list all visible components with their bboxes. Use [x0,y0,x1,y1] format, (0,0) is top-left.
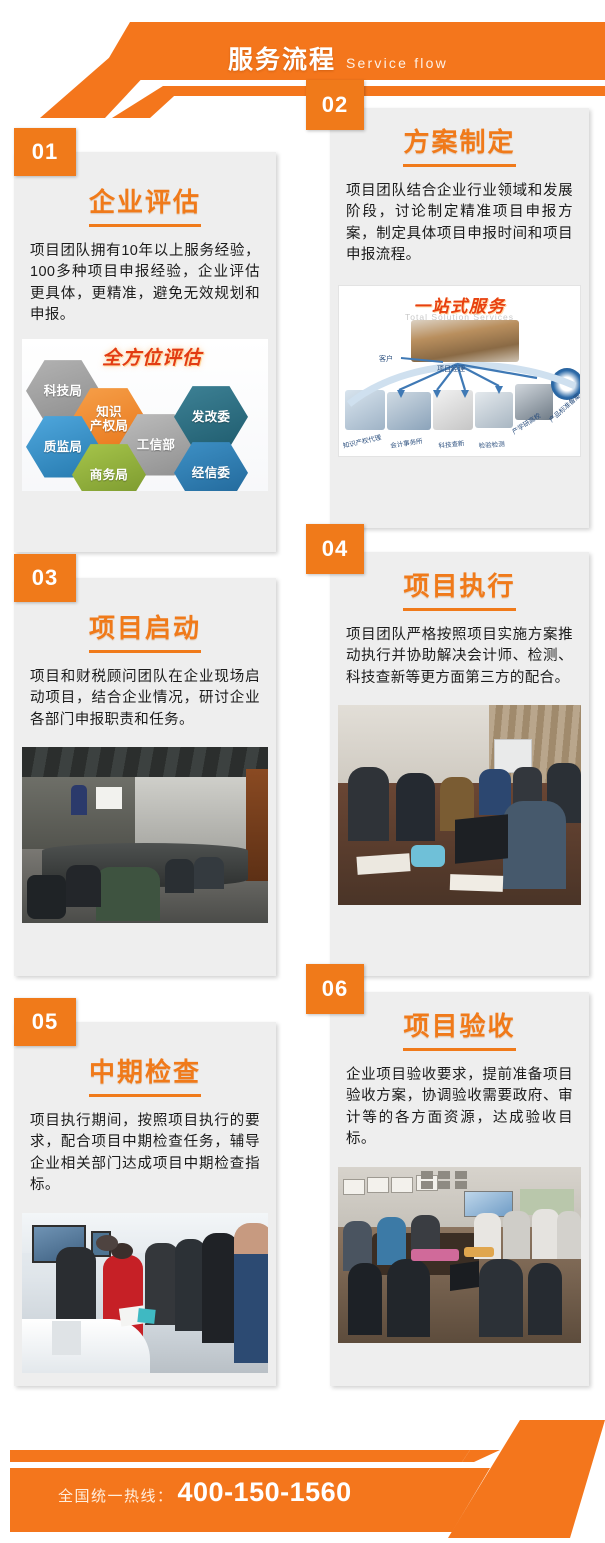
process-card-04[interactable]: 04 项目执行 项目团队严格按照项目实施方案推动执行并协助解决会计师、检测、科技… [330,552,589,976]
card-number-badge-03: 03 [14,554,76,602]
card-header-06: 项目验收 [330,992,589,1051]
card-body-02: 项目团队结合企业行业领域和发展阶段，讨论制定精准项目申报方案，制定具体项目申报时… [330,167,589,279]
onestop-node-pm: 项目经理 [437,364,465,374]
card-number-badge-02: 02 [306,80,364,130]
card-body-06: 企业项目验收要求，提前准备项目验收方案，协调验收需要政府、审计等的各方面资源，达… [330,1051,589,1163]
header-title-cn: 服务流程 [228,40,336,76]
onestop-label-testing: 检验检测 [478,438,505,450]
process-card-01[interactable]: 01 企业评估 项目团队拥有10年以上服务经验，100多种项目申报经验，企业评估… [14,152,276,552]
footer-hotline: 全国统一热线： 400-150-1560 [58,1477,352,1508]
card-title-03: 项目启动 [89,608,201,653]
hex-diagram-title: 全方位评估 [102,343,202,370]
card-number-badge-04: 04 [306,524,364,574]
card-title-05: 中期检查 [89,1052,201,1097]
card-photo-03 [22,747,268,923]
header-title-en: Service flow [346,55,448,71]
card-title-02: 方案制定 [403,122,515,167]
process-card-06[interactable]: 06 项目验收 企业项目验收要求，提前准备项目验收方案，协调验收需要政府、审计等… [330,992,589,1386]
card-number-badge-01: 01 [14,128,76,176]
onestop-service-diagram: 一站式服务 Total Solution Services 客户 项目经理 知识… [338,285,581,457]
card-photo-05 [22,1213,268,1373]
process-card-02[interactable]: 02 方案制定 项目团队结合企业行业领域和发展阶段，讨论制定精准项目申报方案，制… [330,108,589,528]
hex-diagram-01: 全方位评估 科技局 知识产权局 质监局 工信部 商务局 发改委 经信委 [22,339,268,491]
card-header-04: 项目执行 [330,552,589,611]
card-photo-04 [338,705,581,905]
process-card-05[interactable]: 05 中期检查 项目执行期间，按照项目执行的要求，配合项目中期检查任务，辅导企业… [14,1022,276,1386]
card-title-01: 企业评估 [89,182,201,227]
card-number-badge-06: 06 [306,964,364,1014]
card-body-03: 项目和财税顾问团队在企业现场启动项目，结合企业情况，研讨企业各部门申报职责和任务… [14,653,276,743]
onestop-node-customer: 客户 [379,354,393,364]
onestop-subtitle: Total Solution Services [339,312,580,322]
footer-hotline-label: 全国统一热线： [58,1485,174,1506]
process-card-03[interactable]: 03 项目启动 项目和财税顾问团队在企业现场启动项目，结合企业情况，研讨企业各部… [14,578,276,976]
card-header-02: 方案制定 [330,108,589,167]
card-body-05: 项目执行期间，按照项目执行的要求，配合项目中期检查任务，辅导企业相关部门达成项目… [14,1097,276,1209]
page-header: 服务流程 Service flow [0,0,605,118]
card-number-badge-05: 05 [14,998,76,1046]
card-body-01: 项目团队拥有10年以上服务经验，100多种项目申报经验，企业评估更具体，更精准，… [14,227,276,339]
footer-hotline-number: 400-150-1560 [178,1477,352,1508]
card-title-04: 项目执行 [403,566,515,611]
card-photo-06 [338,1167,581,1343]
card-body-04: 项目团队严格按照项目实施方案推动执行并协助解决会计师、检测、科技查新等更方面第三… [330,611,589,701]
card-title-06: 项目验收 [403,1006,515,1051]
header-title-group: 服务流程 Service flow [228,40,448,76]
